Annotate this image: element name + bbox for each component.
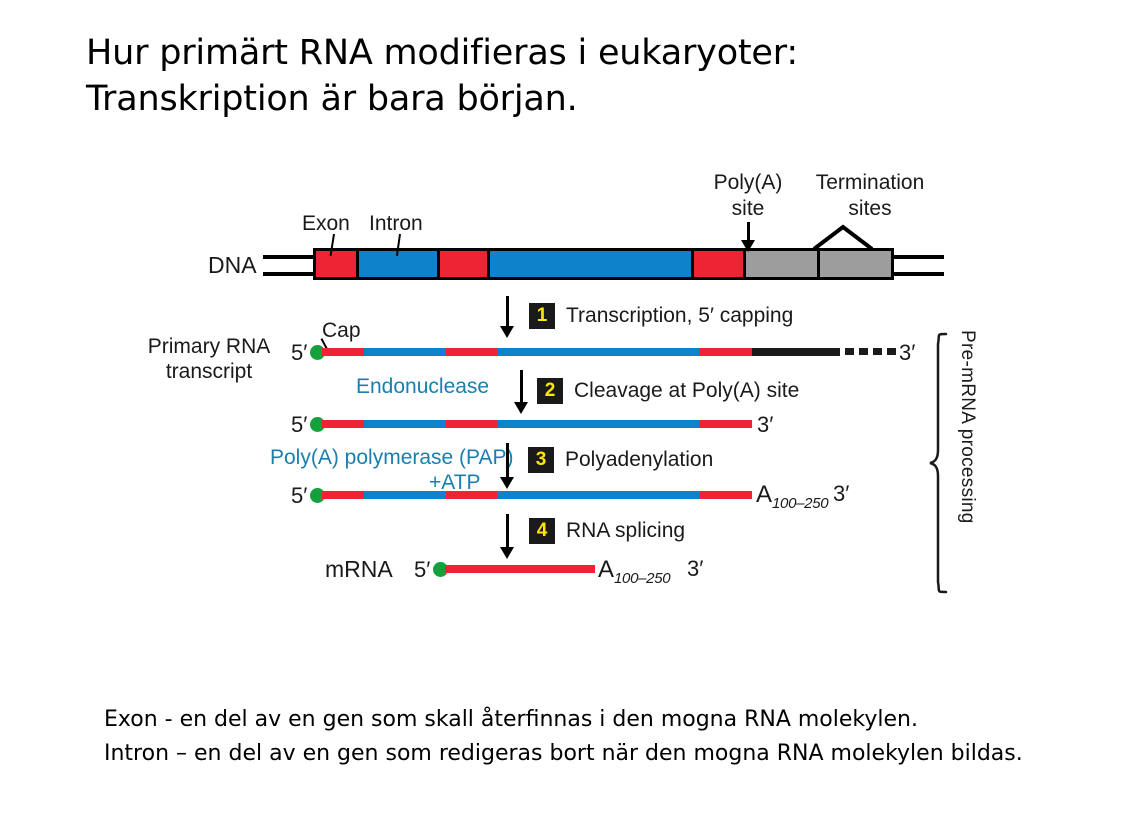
polya-exon-3 — [700, 491, 752, 499]
step-2-arrow-head — [514, 402, 528, 414]
cleaved-exon-3 — [700, 420, 752, 428]
primary-rna-label-line2: transcript — [133, 359, 285, 384]
primary-exon-1 — [322, 348, 364, 356]
endonuclease-label: Endonuclease — [356, 374, 489, 399]
definitions-block: Exon - en del av en gen som skall återfi… — [104, 703, 1084, 771]
cleaved-rna-3prime: 3′ — [757, 412, 773, 438]
step-1-label: Transcription, 5′ capping — [566, 303, 793, 328]
polya-tail-1: A100–250 — [756, 481, 828, 512]
cleaved-intron-1 — [364, 420, 446, 428]
dna-duplex-right-top — [892, 255, 944, 259]
exon-caption: Exon — [302, 211, 350, 236]
mrna-tail-a: A — [598, 556, 614, 583]
cleaved-intron-2 — [497, 420, 700, 428]
primary-rna-5prime: 5′ — [291, 340, 307, 366]
step-4-label: RNA splicing — [566, 518, 685, 543]
mrna-5prime: 5′ — [414, 557, 430, 583]
polya-exon-2 — [446, 491, 497, 499]
polya-tail-range: 100–250 — [772, 495, 828, 512]
cleaved-rna-5prime: 5′ — [291, 412, 307, 438]
primary-exon-3 — [700, 348, 752, 356]
dna-gene-bar — [313, 248, 894, 280]
cleaved-exon-1 — [322, 420, 364, 428]
polya-site-caption-line2: site — [702, 196, 794, 221]
primary-trailer — [752, 348, 840, 356]
primary-rna-strand — [322, 348, 840, 356]
pre-mrna-brace — [928, 332, 950, 594]
polya-site-caption-line1: Poly(A) — [702, 170, 794, 195]
termination-chevron-icon — [812, 224, 874, 250]
primary-exon-2 — [446, 348, 497, 356]
dna-duplex-left-bottom — [263, 272, 315, 276]
primary-rna-3prime: 3′ — [899, 340, 915, 366]
dna-duplex-right-bottom — [892, 272, 944, 276]
step-4-arrow-head — [500, 547, 514, 559]
dna-exon-1 — [316, 251, 356, 277]
dna-intron-2 — [487, 251, 691, 277]
step-2-label: Cleavage at Poly(A) site — [574, 378, 799, 403]
exon-definition: Exon - en del av en gen som skall återfi… — [104, 703, 1084, 737]
dna-exon-2 — [437, 251, 487, 277]
dna-flank-1 — [743, 251, 817, 277]
step-2-badge: 2 — [537, 378, 563, 404]
polya-exon-1 — [322, 491, 364, 499]
polya-intron-2 — [497, 491, 700, 499]
termination-caption-line2: sites — [795, 196, 945, 221]
cleaved-exon-2 — [446, 420, 497, 428]
polya-tail-a: A — [756, 481, 772, 508]
step-4-badge: 4 — [529, 518, 555, 544]
step-1-badge: 1 — [529, 303, 555, 329]
step-3-badge: 3 — [528, 447, 554, 473]
primary-rna-dashes — [845, 348, 896, 355]
step-3-label: Polyadenylation — [565, 447, 713, 472]
rna-processing-diagram: DNA Exon Intron Poly(A) site Termination… — [0, 0, 1140, 824]
intron-caption: Intron — [369, 211, 423, 236]
polya-tail-2: A100–250 — [598, 556, 670, 587]
cap-label: Cap — [322, 318, 361, 343]
polya-rna-5prime: 5′ — [291, 483, 307, 509]
primary-intron-1 — [364, 348, 446, 356]
mrna-3prime: 3′ — [687, 556, 703, 582]
dna-exon-3 — [691, 251, 743, 277]
dna-label: DNA — [208, 253, 257, 278]
mrna-exons-joined — [445, 565, 595, 573]
primary-rna-label-line1: Primary RNA — [133, 334, 285, 359]
cleaved-rna-strand — [322, 420, 752, 428]
step-1-arrow-head — [500, 326, 514, 338]
polya-rna-strand — [322, 491, 752, 499]
mrna-strand — [445, 565, 595, 573]
polya-rna-3prime: 3′ — [833, 481, 849, 507]
polya-site-arrow-head — [741, 240, 755, 252]
primary-intron-2 — [497, 348, 700, 356]
pre-mrna-processing-label: Pre-mRNA processing — [952, 330, 978, 592]
mrna-tail-range: 100–250 — [614, 570, 670, 587]
pap-label: Poly(A) polymerase (PAP) — [270, 445, 514, 470]
dna-duplex-left-top — [263, 255, 315, 259]
termination-caption-line1: Termination — [795, 170, 945, 195]
intron-definition: Intron – en del av en gen som redigeras … — [104, 737, 1084, 771]
step-3-arrow-head — [500, 477, 514, 489]
dna-flank-2 — [817, 251, 891, 277]
polya-intron-1 — [364, 491, 446, 499]
mrna-label: mRNA — [325, 557, 393, 582]
